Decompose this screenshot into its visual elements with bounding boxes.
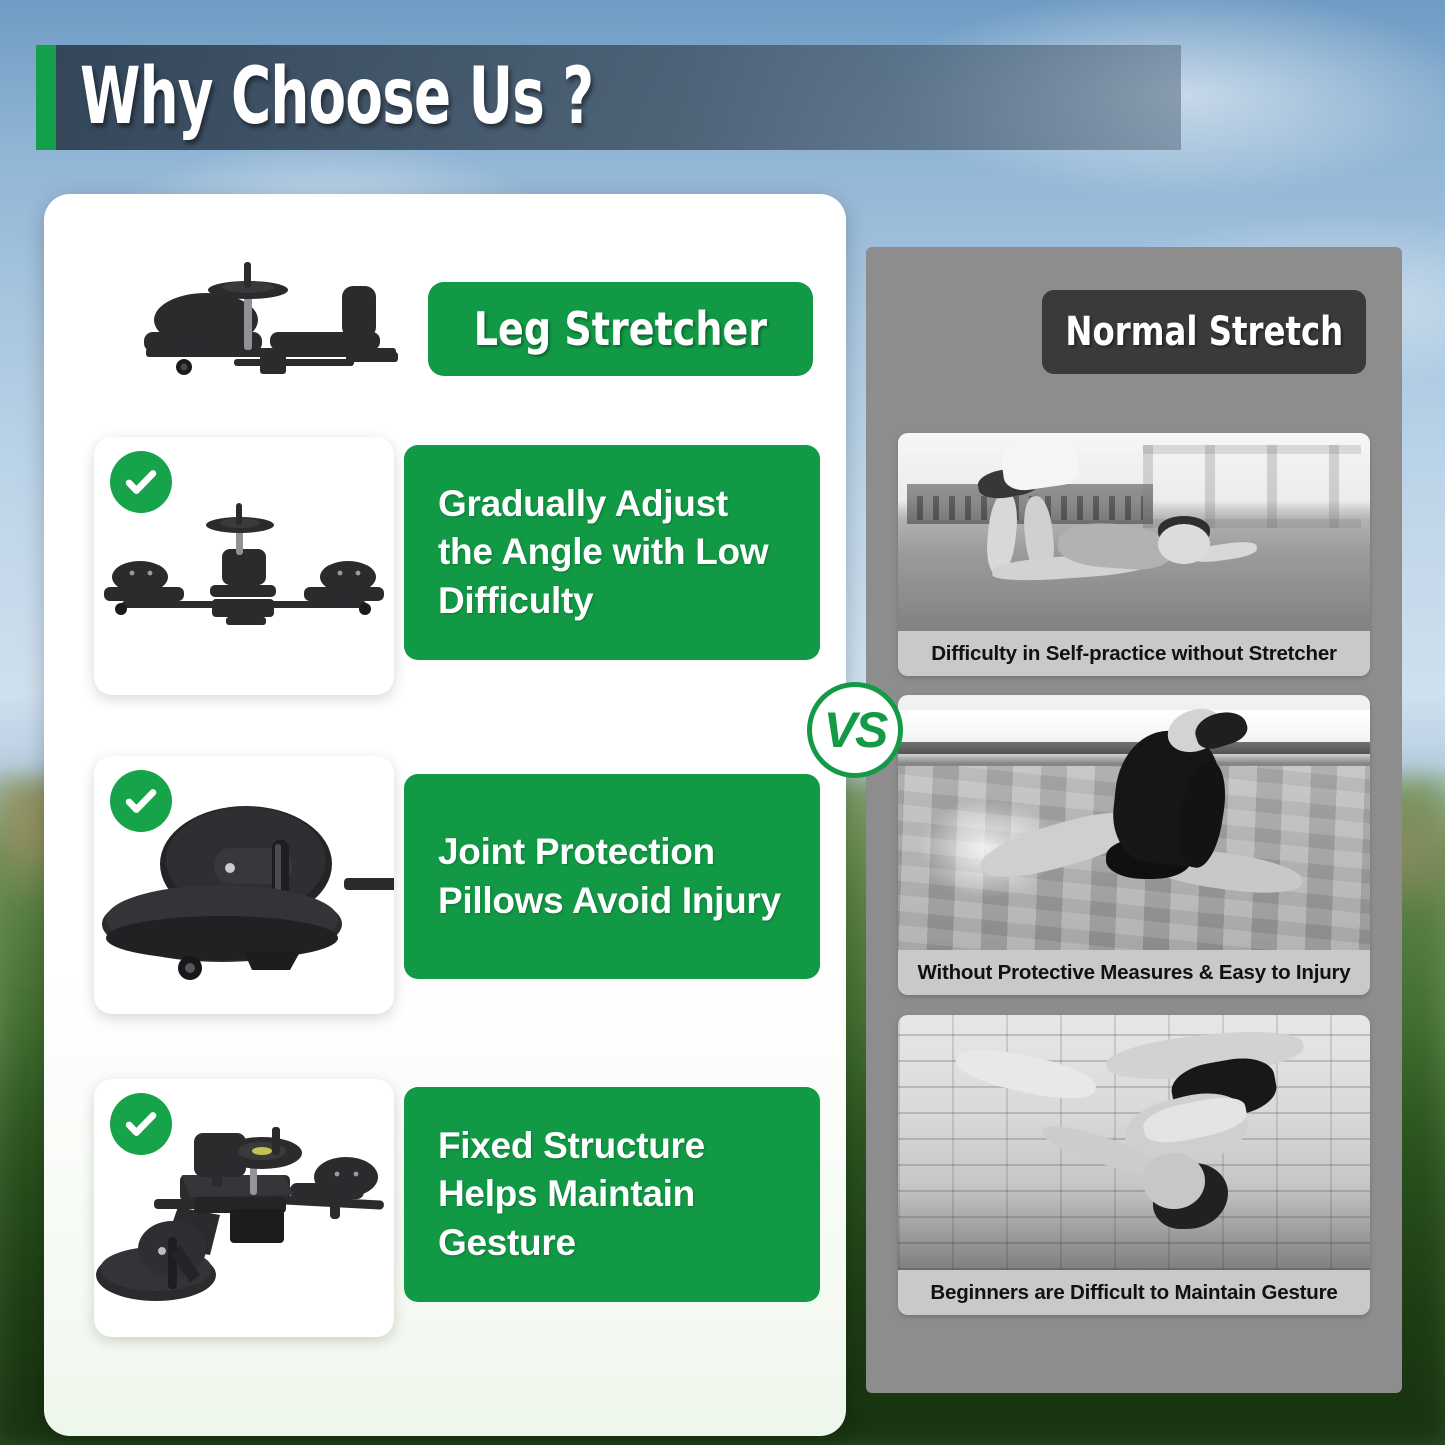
feature-label-1: Gradually Adjust the Angle with Low Diff… [438,480,790,624]
header-accent-bar [36,45,56,150]
comparison-card-2: Without Protective Measures & Easy to In… [898,695,1370,995]
comparison-card-1: Difficulty in Self-practice without Stre… [898,433,1370,676]
leg-stretcher-panel: Leg Stretcher [44,194,846,1436]
split-person-sock-leg [952,1041,1098,1105]
feature-text-3: Fixed Structure Helps Maintain Gesture [404,1087,820,1302]
feature-text-1: Gradually Adjust the Angle with Low Diff… [404,445,820,660]
leg-stretcher-front-view-spread [94,437,394,695]
header-band: Why Choose Us ? [56,45,1181,150]
leg-stretcher-three-quarter-view [94,1079,394,1337]
check-icon [110,451,172,513]
dancer-floor-stretch-photo [898,695,1370,950]
normal-stretch-panel: Normal Stretch Difficulty in Self-practi… [866,247,1402,1393]
brick-wall-split-stretch-photo [898,1015,1370,1270]
studio-assisted-stretch-photo [898,433,1370,631]
feature-label-3: Fixed Structure Helps Maintain Gesture [438,1122,790,1266]
feature-row-3: Fixed Structure Helps Maintain Gesture [94,1079,820,1337]
check-icon [110,770,172,832]
leg-stretcher-badge: Leg Stretcher [428,282,813,376]
check-icon [110,1093,172,1155]
infographic-stage: Why Choose Us ? Normal Stretch [0,0,1445,1445]
versus-label: VS [824,705,887,755]
leg-stretcher-badge-label: Leg Stretcher [474,302,767,356]
seated-person-head [1158,524,1210,564]
feature-text-2: Joint Protection Pillows Avoid Injury [404,774,820,979]
leg-stretcher-side-view [84,228,444,388]
feature-row-1: Gradually Adjust the Angle with Low Diff… [94,437,820,695]
brick-wall-shadow [898,1183,1370,1270]
page-header: Why Choose Us ? [36,45,1181,150]
comparison-caption-2: Without Protective Measures & Easy to In… [898,950,1370,995]
feature-label-2: Joint Protection Pillows Avoid Injury [438,828,790,924]
normal-stretch-badge-label: Normal Stretch [1065,309,1343,355]
comparison-card-3: Beginners are Difficult to Maintain Gest… [898,1015,1370,1315]
versus-badge: VS [807,682,903,778]
normal-stretch-badge: Normal Stretch [1042,290,1366,374]
page-title: Why Choose Us ? [80,59,593,135]
comparison-caption-3: Beginners are Difficult to Maintain Gest… [898,1270,1370,1315]
joint-protection-pillow-closeup [94,756,394,1014]
feature-row-2: Joint Protection Pillows Avoid Injury [94,756,820,1014]
split-person-head [1143,1153,1204,1209]
comparison-caption-1: Difficulty in Self-practice without Stre… [898,631,1370,676]
